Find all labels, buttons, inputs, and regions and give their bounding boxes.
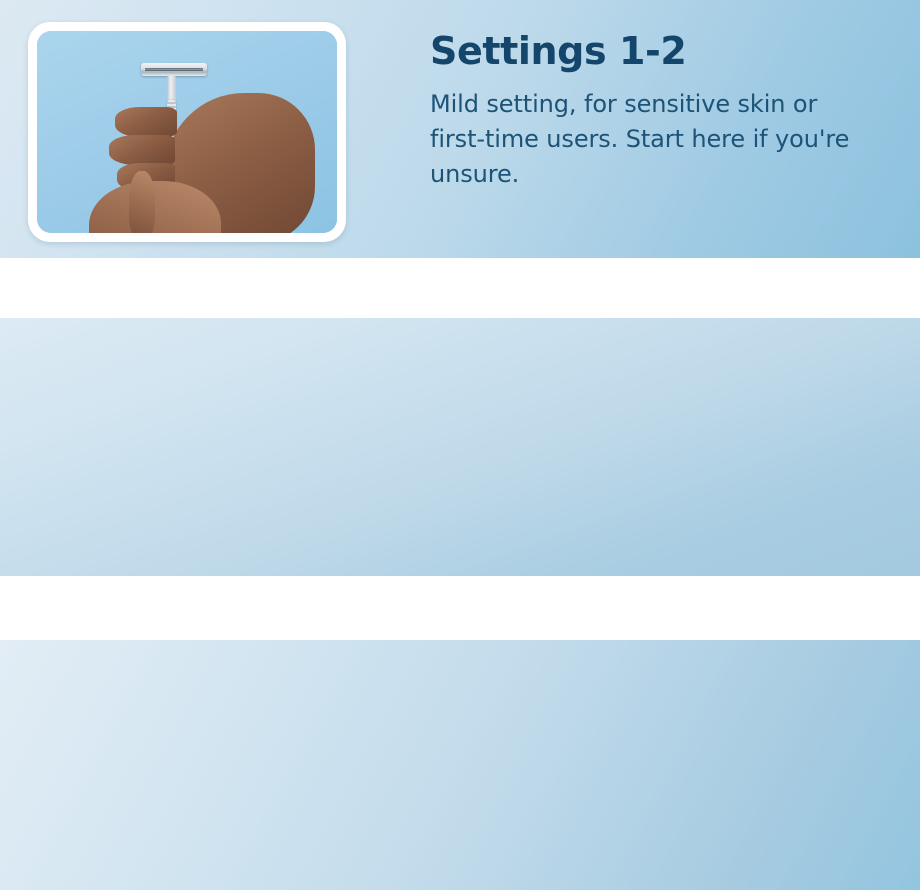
settings-panel-1-2: Settings 1-2 Mild setting, for sensitive… — [0, 0, 920, 258]
razor-photo-settings-1-2 — [28, 22, 346, 242]
settings-guide-board: Settings 1-2 Mild setting, for sensitive… — [0, 0, 920, 890]
settings-1-2-body: Mild setting, for sensitive skin or firs… — [430, 87, 870, 192]
settings-1-2-textblock: Settings 1-2 Mild setting, for sensitive… — [430, 30, 870, 192]
settings-1-2-heading: Settings 1-2 — [430, 30, 870, 73]
photo-inner — [37, 31, 337, 233]
finger-index — [115, 107, 177, 137]
settings-panel-5-6: Settings 5-6 For thick hair or an ultra-… — [0, 640, 920, 890]
finger-thumb — [129, 171, 155, 233]
settings-panel-3-4: Settings 3-4 A balanced, everyday shave.… — [0, 318, 920, 576]
finger-middle — [109, 135, 175, 165]
